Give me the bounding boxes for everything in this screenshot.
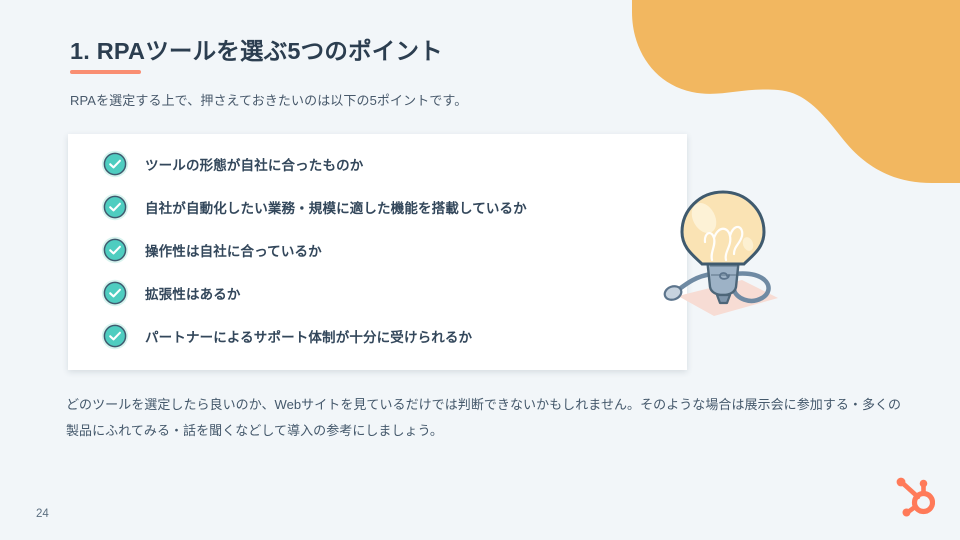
list-item: ツールの形態が自社に合ったものか — [101, 150, 363, 178]
list-item: 自社が自動化したい業務・規模に適した機能を搭載しているか — [101, 193, 527, 221]
list-item: 操作性は自社に合っているか — [101, 236, 322, 264]
page-title: 1. RPAツールを選ぶ5つのポイント — [70, 32, 443, 66]
page-number: 24 — [36, 508, 49, 520]
checklist-card: ツールの形態が自社に合ったものか 自社が自動化したい業務・規模に適した機能を搭載… — [68, 134, 687, 370]
checklist-item-label: ツールの形態が自社に合ったものか — [145, 154, 363, 174]
checklist-item-label: パートナーによるサポート体制が十分に受けられるか — [145, 326, 472, 346]
check-circle-icon — [101, 150, 129, 178]
list-item: 拡張性はあるか — [101, 279, 241, 307]
page-subtitle: RPAを選定する上で、押さえておきたいのは以下の5ポイントです。 — [70, 90, 467, 109]
checklist-item-label: 拡張性はあるか — [145, 283, 241, 303]
check-circle-icon — [101, 193, 129, 221]
check-circle-icon — [101, 279, 129, 307]
check-circle-icon — [101, 236, 129, 264]
body-paragraph: どのツールを選定したら良いのか、Webサイトを見ているだけでは判断できないかもし… — [66, 392, 906, 444]
hubspot-logo — [893, 476, 935, 518]
checklist-item-label: 操作性は自社に合っているか — [145, 240, 322, 260]
list-item: パートナーによるサポート体制が十分に受けられるか — [101, 322, 472, 350]
check-circle-icon — [101, 322, 129, 350]
title-underline — [70, 70, 141, 74]
checklist-item-label: 自社が自動化したい業務・規模に適した機能を搭載しているか — [145, 197, 527, 217]
slide-canvas: 1. RPAツールを選ぶ5つのポイント RPAを選定する上で、押さえておきたいの… — [0, 0, 960, 540]
